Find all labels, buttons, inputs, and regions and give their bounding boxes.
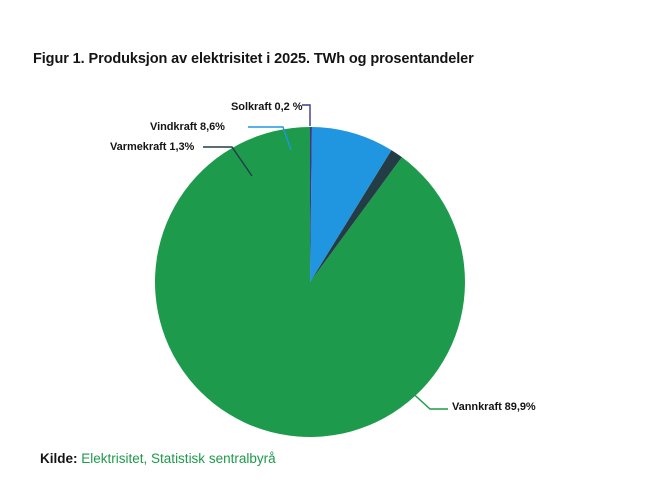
source-line: Kilde: Elektrisitet, Statistisk sentralb… (40, 451, 276, 466)
pie-label-varmekraft: Varmekraft 1,3% (110, 141, 194, 153)
figure-container: Figur 1. Produksjon av elektrisitet i 20… (0, 0, 650, 500)
pie-label-solkraft: Solkraft 0,2 % (231, 101, 302, 113)
pie-slices (155, 127, 465, 437)
leader-line-solkraft (302, 105, 310, 126)
pie-label-vindkraft: Vindkraft 8,6% (150, 121, 225, 133)
source-label: Kilde: (40, 451, 78, 466)
source-link[interactable]: Elektrisitet, Statistisk sentralbyrå (81, 451, 275, 466)
pie-label-vannkraft: Vannkraft 89,9% (452, 401, 536, 413)
pie-slice-vannkraft[interactable] (155, 127, 465, 437)
pie-chart (0, 0, 650, 500)
